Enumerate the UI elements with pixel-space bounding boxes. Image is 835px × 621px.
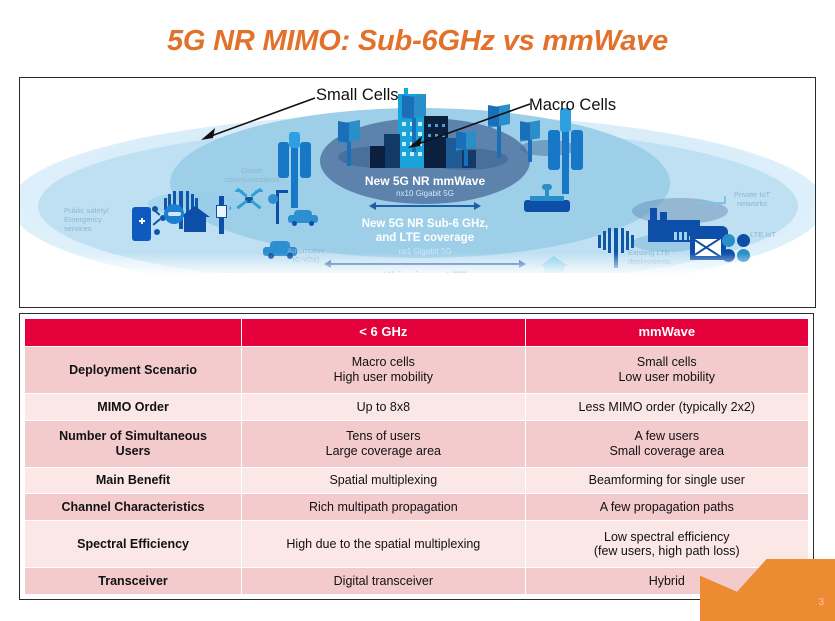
network-diagram-image: Drone communications Public safety/ Emer… (19, 77, 816, 308)
cell-mmwave-deployment-scenario: Small cells Low user mobility (525, 347, 808, 394)
satellite-dish-icon (164, 204, 184, 224)
table-row: Transceiver Digital transceiver Hybrid (25, 568, 809, 595)
small-cells-callout-label: Small Cells (316, 86, 399, 105)
cell-line: Spatial multiplexing (329, 473, 437, 487)
cell-line: Small cells (637, 355, 697, 369)
row-label-channel-characteristics: Channel Characteristics (25, 494, 242, 521)
cell-sub6-spectral-efficiency: High due to the spatial multiplexing (242, 521, 525, 568)
table-row: MIMO Order Up to 8x8 Less MIMO order (ty… (25, 393, 809, 420)
header-empty-cell (25, 319, 242, 347)
row-label-number-of-simultaneous-users: Number of Simultaneous Users (25, 420, 242, 467)
house-icon (180, 206, 210, 232)
cell-mmwave-number-of-simultaneous-users: A few users Small coverage area (525, 420, 808, 467)
row-label-deployment-scenario: Deployment Scenario (25, 347, 242, 394)
header-sub6-cell: < 6 GHz (242, 319, 525, 347)
public-safety-line3: services (64, 224, 92, 233)
iot-sensor-icon (214, 196, 230, 234)
table-row: Channel Characteristics Rich multipath p… (25, 494, 809, 521)
diagram-base-fade (20, 253, 815, 279)
public-safety-label: Public safety/ Emergency services (64, 206, 130, 233)
cell-line: Small coverage area (609, 444, 724, 458)
row-label-line1: Number of Simultaneous (59, 429, 207, 443)
comparison-table: < 6 GHz mmWave Deployment Scenario Macro… (24, 318, 809, 595)
cell-mmwave-channel-characteristics: A few propagation paths (525, 494, 808, 521)
small-cells-arrow-icon (197, 94, 317, 144)
cell-sub6-number-of-simultaneous-users: Tens of users Large coverage area (242, 420, 525, 467)
row-label-transceiver: Transceiver (25, 568, 242, 595)
cell-sub6-mimo-order: Up to 8x8 (242, 393, 525, 420)
drone-icon (235, 190, 263, 210)
page-number: 3 (818, 597, 824, 608)
cell-sub6-channel-characteristics: Rich multipath propagation (242, 494, 525, 521)
cell-line: Up to 8x8 (357, 400, 411, 414)
page-title: 5G NR MIMO: Sub-6GHz vs mmWave (0, 20, 835, 62)
private-iot-line2: networks (737, 199, 767, 208)
table-header-row: < 6 GHz mmWave (25, 319, 809, 347)
macro-cells-callout-label: Macro Cells (529, 96, 616, 115)
row-label-text: Transceiver (98, 574, 168, 588)
row-label-text: MIMO Order (97, 400, 169, 414)
public-safety-line1: Public safety/ (64, 206, 109, 215)
cell-mmwave-mimo-order: Less MIMO order (typically 2x2) (525, 393, 808, 420)
cell-line: Tens of users (346, 429, 420, 443)
cell-line: High due to the spatial multiplexing (286, 537, 480, 551)
drone-label-line2: communications (225, 175, 279, 184)
table-row: Main Benefit Spatial multiplexing Beamfo… (25, 467, 809, 494)
cell-line: (few users, high path loss) (594, 544, 740, 558)
cell-line: Less MIMO order (typically 2x2) (579, 400, 755, 414)
lte-iot-right-label: LTE IoT (750, 230, 798, 239)
cell-line: Low spectral efficiency (604, 530, 730, 544)
sub6-label-line1: New 5G NR Sub-6 GHz, (305, 218, 545, 230)
row-label-text: Main Benefit (96, 473, 170, 487)
public-safety-line2: Emergency (64, 215, 102, 224)
cell-sub6-deployment-scenario: Macro cells High user mobility (242, 347, 525, 394)
macro-cells-arrow-icon (402, 100, 532, 152)
cell-line: Large coverage area (326, 444, 441, 458)
cell-line: A few users (634, 429, 699, 443)
cell-line: Macro cells (352, 355, 415, 369)
row-label-text: Channel Characteristics (62, 500, 205, 514)
header-mmwave-cell: mmWave (525, 319, 808, 347)
iot-hub-icon (524, 184, 570, 214)
public-safety-phone-icon (132, 203, 166, 247)
table-row: Number of Simultaneous Users Tens of use… (25, 420, 809, 467)
cell-line: Rich multipath propagation (309, 500, 458, 514)
macro-tower-icon (548, 108, 582, 194)
cell-line: Beamforming for single user (589, 473, 745, 487)
cell-line: High user mobility (334, 370, 433, 384)
mmwave-range-arrow (375, 205, 475, 207)
mmwave-label: New 5G NR mmWave (320, 174, 530, 188)
comparison-table-container: < 6 GHz mmWave Deployment Scenario Macro… (19, 313, 814, 600)
corner-chevron-decoration (700, 559, 835, 621)
chevron-shape (700, 559, 835, 621)
cell-line: A few propagation paths (600, 500, 734, 514)
row-label-text: Spectral Efficiency (77, 537, 189, 551)
cell-mmwave-main-benefit: Beamforming for single user (525, 467, 808, 494)
drone-label-line1: Drone (242, 166, 262, 175)
row-label-main-benefit: Main Benefit (25, 467, 242, 494)
mmwave-sublabel: nx10 Gigabit 5G (320, 189, 530, 198)
table-row: Spectral Efficiency High due to the spat… (25, 521, 809, 568)
sub6-label-line2: and LTE coverage (305, 232, 545, 244)
row-label-line2: Users (116, 444, 151, 458)
cell-sub6-transceiver: Digital transceiver (242, 568, 525, 595)
private-iot-label: Private IoT networks (720, 190, 784, 208)
row-label-text: Deployment Scenario (69, 363, 197, 377)
small-cell-icon (338, 122, 360, 166)
cell-line: Low user mobility (618, 370, 715, 384)
row-label-mimo-order: MIMO Order (25, 393, 242, 420)
row-label-spectral-efficiency: Spectral Efficiency (25, 521, 242, 568)
cell-sub6-main-benefit: Spatial multiplexing (242, 467, 525, 494)
table-row: Deployment Scenario Macro cells High use… (25, 347, 809, 394)
cell-line: Hybrid (649, 574, 685, 588)
private-iot-line1: Private IoT (734, 190, 770, 199)
cell-line: Digital transceiver (334, 574, 433, 588)
